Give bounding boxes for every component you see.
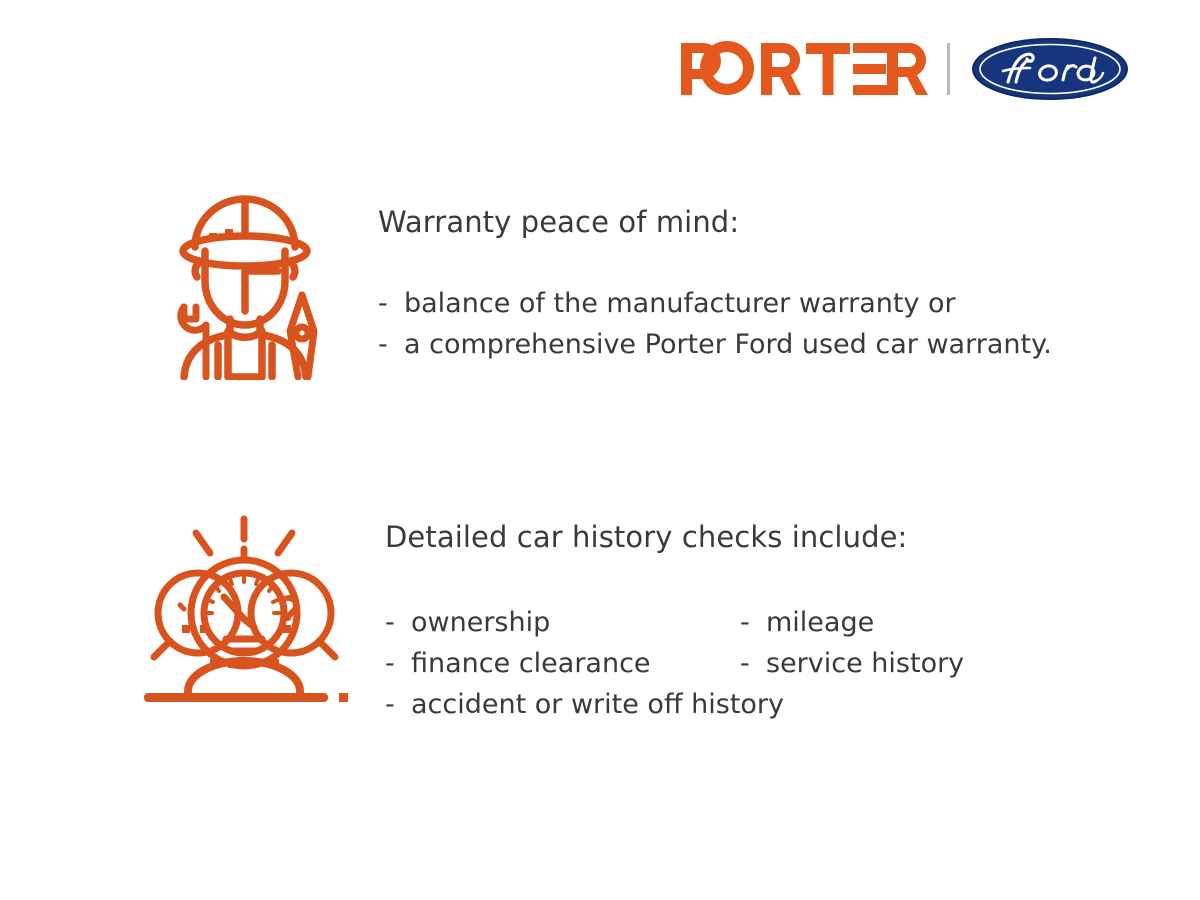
list-item: - service history — [740, 643, 964, 684]
history-heading: Detailed car history checks include: — [385, 520, 964, 554]
mechanic-icon — [150, 185, 340, 380]
bullet-dash: - — [740, 602, 766, 643]
bullet-dash: - — [378, 283, 404, 324]
list-item: - ownership — [385, 602, 740, 643]
history-bullet-column-left: - ownership - finance clearance — [385, 602, 740, 684]
warranty-section: Warranty peace of mind: - balance of the… — [150, 185, 1052, 380]
history-bullet-wide: - accident or write off history — [385, 684, 964, 725]
bullet-label: mileage — [766, 602, 874, 643]
brand-logo-lockup[interactable] — [681, 34, 1128, 104]
list-item: - balance of the manufacturer warranty o… — [378, 283, 1052, 324]
history-bullet-column-right: - mileage - service history — [740, 602, 964, 684]
bullet-label: finance clearance — [411, 643, 651, 684]
warranty-text-block: Warranty peace of mind: - balance of the… — [378, 185, 1052, 365]
bullet-dash: - — [378, 324, 404, 365]
history-section: Detailed car history checks include: - o… — [136, 505, 964, 725]
bullet-label: accident or write off history — [411, 684, 784, 725]
bullet-label: ownership — [411, 602, 550, 643]
bullet-label: a comprehensive Porter Ford used car war… — [404, 324, 1052, 365]
list-item: - mileage — [740, 602, 964, 643]
warranty-heading: Warranty peace of mind: — [378, 205, 1052, 239]
bullet-dash: - — [740, 643, 766, 684]
history-bullet-lists: - ownership - finance clearance - mileag… — [385, 602, 964, 725]
list-item: - a comprehensive Porter Ford used car w… — [378, 324, 1052, 365]
header — [0, 34, 1200, 104]
bullet-label: balance of the manufacturer warranty or — [404, 283, 956, 324]
bullet-dash: - — [385, 643, 411, 684]
list-item: - accident or write off history — [385, 684, 964, 725]
bullet-label: service history — [766, 643, 964, 684]
list-item: - finance clearance — [385, 643, 740, 684]
history-text-block: Detailed car history checks include: - o… — [385, 505, 964, 725]
logo-divider — [947, 43, 950, 95]
bullet-dash: - — [385, 602, 411, 643]
warranty-bullet-list: - balance of the manufacturer warranty o… — [378, 283, 1052, 365]
ford-oval-logo[interactable] — [972, 38, 1128, 100]
history-bullet-columns: - ownership - finance clearance - mileag… — [385, 602, 964, 684]
porter-wordmark-logo[interactable] — [681, 41, 929, 97]
bullet-dash: - — [385, 684, 411, 725]
dashboard-gauges-icon — [136, 505, 360, 705]
